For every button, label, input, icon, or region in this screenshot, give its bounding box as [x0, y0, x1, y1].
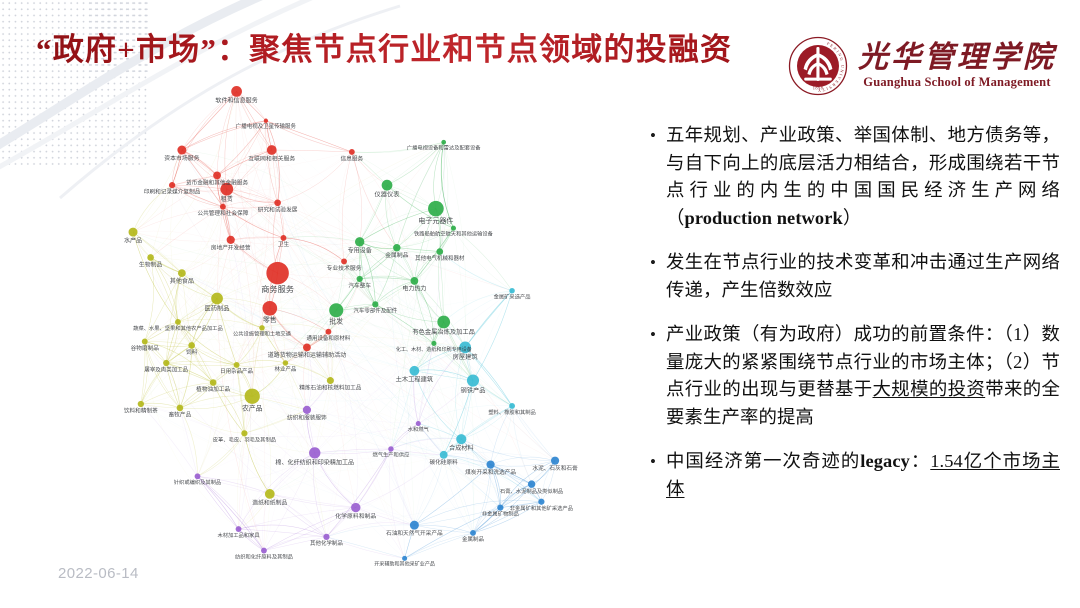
graph-edge	[141, 404, 327, 537]
graph-node-label: 通用设备和原材料	[307, 334, 351, 342]
bullet-item: •发生在节点行业的技术变革和冲击通过生产网络传递，产生倍数效应	[648, 249, 1060, 304]
graph-edge	[444, 142, 466, 455]
graph-node-label: 化工、木材、造纸和印刷专用设备	[396, 346, 472, 353]
graph-node[interactable]	[138, 401, 144, 407]
graph-node[interactable]	[261, 548, 267, 554]
graph-node-label: 针织或编织及其制品	[174, 478, 221, 486]
graph-node-label: 资本市场服务	[164, 154, 199, 162]
graph-node[interactable]	[509, 288, 514, 293]
graph-node-label: 金属矿采选产品	[494, 292, 531, 300]
graph-node-label: 塑料、橡胶和其制品	[488, 408, 535, 416]
graph-edge	[307, 142, 444, 347]
graph-node-label: 谷物磨制品	[131, 344, 160, 352]
graph-node-label: 煤炭开采和洗选产品	[465, 468, 516, 476]
graph-node[interactable]	[262, 301, 277, 316]
logo-wordmark: 光华管理学院 Guanghua School of Management	[858, 42, 1056, 91]
graph-node[interactable]	[265, 489, 275, 499]
logo-name-cn: 光华管理学院	[858, 42, 1056, 74]
graph-node-label: 皮革、毛皮、羽毛及其制品	[213, 435, 276, 443]
graph-node[interactable]	[372, 301, 378, 307]
bullet-text-segment: ：	[910, 451, 930, 471]
graph-node[interactable]	[528, 480, 535, 487]
graph-edge	[227, 121, 266, 189]
graph-node[interactable]	[327, 377, 334, 384]
graph-node-label: 其他化学制品	[310, 539, 343, 547]
graph-node-label: 研究和试验发展	[258, 205, 298, 213]
graph-edge	[389, 449, 404, 558]
graph-edge	[133, 228, 453, 265]
graph-node[interactable]	[329, 303, 343, 317]
graph-node-label: 零售	[263, 315, 277, 324]
graph-node-label: 互联网和相关服务	[248, 154, 295, 162]
graph-node-label: 钢铁产品	[461, 386, 486, 395]
graph-node[interactable]	[267, 145, 277, 155]
graph-node-label: 纺织和化纤原料及其制品	[235, 552, 293, 560]
graph-node[interactable]	[323, 534, 329, 540]
network-graph-canvas: 软件和信息服务广播电视及卫星传输服务资本市场服务互联网和相关服务信息服务广播电视…	[52, 66, 640, 574]
graph-node[interactable]	[195, 473, 201, 479]
graph-node-label: 卫生	[278, 240, 290, 248]
graph-node-label: 电力热力	[402, 285, 426, 293]
graph-edge	[414, 439, 461, 525]
graph-node[interactable]	[325, 329, 331, 335]
graph-node[interactable]	[274, 199, 281, 206]
graph-edge	[330, 381, 541, 502]
graph-edge	[461, 439, 555, 460]
graph-node-label: 造纸和纸制品	[252, 498, 287, 506]
graph-node-label: 非金属矿和其他矿采选产品	[510, 504, 573, 512]
institution-logo: 1898 PEKING UNIVERSITY 光华管理学院 Guanghua S…	[788, 36, 1056, 96]
graph-edge	[375, 281, 414, 304]
graph-edge	[512, 406, 541, 502]
graph-node[interactable]	[467, 375, 479, 387]
graph-node[interactable]	[178, 269, 186, 277]
graph-edge	[473, 291, 512, 381]
graph-node-label: 植物油加工品	[196, 385, 230, 393]
graph-edge	[198, 476, 264, 550]
bullet-marker-icon: •	[648, 249, 666, 304]
graph-edge	[244, 410, 307, 433]
graph-node-label: 广播电视设备和雷达及配套设备	[407, 144, 481, 152]
graph-edge	[336, 310, 434, 343]
graph-node[interactable]	[211, 293, 223, 305]
graph-node-label: 公共设施管理和土地交通	[233, 330, 292, 338]
graph-node[interactable]	[470, 530, 476, 536]
graph-edge	[270, 453, 315, 494]
graph-node-label: 汽车零部件及配件	[353, 307, 397, 315]
graph-edge	[151, 91, 237, 257]
graph-edge	[272, 150, 352, 152]
graph-node-label: 印刷和记录媒介复制品	[144, 188, 201, 196]
graph-node[interactable]	[349, 149, 355, 155]
graph-edge	[391, 449, 414, 525]
graph-edge	[270, 308, 336, 310]
graph-node-label: 生物制品	[139, 260, 163, 268]
graph-node-label: 其他电气机械和器材	[415, 254, 465, 262]
graph-node[interactable]	[210, 379, 217, 386]
graph-node-label: 非金属矿物制品	[482, 510, 519, 518]
graph-node[interactable]	[497, 504, 503, 510]
logo-name-en: Guanghua School of Management	[863, 75, 1050, 90]
graph-node-label: 石油和天然气开采产品	[386, 529, 443, 537]
graph-node[interactable]	[436, 248, 443, 255]
graph-node[interactable]	[341, 258, 347, 264]
slide-canvas: “政府+市场”：聚焦节点行业和节点领域的投融资 1898 PEKING UNIV…	[0, 0, 1080, 608]
graph-node-label: 日用杂品产品	[220, 367, 253, 375]
bullet-text: 五年规划、产业政策、举国体制、地方债务等，与自下向上的底层活力相结合，形成围绕若…	[666, 122, 1060, 232]
graph-node-label: 租赁	[221, 195, 233, 203]
graph-node[interactable]	[241, 430, 247, 436]
graph-node-label: 商务服务	[261, 284, 294, 294]
graph-edge	[342, 152, 352, 261]
graph-node[interactable]	[281, 235, 287, 241]
graph-node-label: 饲料	[186, 348, 198, 356]
graph-node[interactable]	[169, 182, 175, 188]
graph-node-label: 燃气生产和供应	[373, 451, 411, 459]
graph-node[interactable]	[236, 526, 242, 532]
graph-edge	[198, 476, 264, 550]
graph-node[interactable]	[259, 325, 264, 330]
graph-node-label: 棉、化纤纺织和印染精加工品	[275, 458, 354, 466]
graph-node[interactable]	[382, 180, 393, 191]
graph-node-label: 开采辅助和其他采矿业产品	[374, 561, 435, 568]
graph-edge	[244, 410, 307, 433]
date-stamp: 2022-06-14	[58, 565, 139, 582]
graph-node-label: 批发	[329, 317, 343, 326]
bullet-underlined-text: 大规模的投资	[873, 379, 986, 399]
graph-node[interactable]	[175, 319, 181, 325]
graph-node[interactable]	[538, 499, 544, 505]
graph-edge	[278, 203, 415, 371]
graph-node-label: 铁路船舶航空航天和其他运输设备	[414, 230, 494, 238]
bullet-marker-icon: •	[648, 321, 666, 431]
graph-node-label: 畜牧产品	[169, 411, 192, 419]
graph-node-label: 林业产品	[274, 365, 296, 373]
graph-node[interactable]	[163, 360, 169, 366]
bullet-text: 中国经济第一次奇迹的legacy：1.54亿个市场主体	[666, 448, 1060, 503]
graph-node[interactable]	[177, 146, 186, 155]
graph-edge	[436, 142, 445, 208]
graph-node-label: 专业技术服务	[326, 264, 361, 272]
graph-node[interactable]	[351, 503, 360, 512]
graph-node[interactable]	[431, 341, 436, 346]
graph-node[interactable]	[283, 360, 288, 365]
graph-node[interactable]	[303, 406, 311, 414]
graph-node-label: 汽车整车	[348, 281, 371, 289]
graph-edge	[440, 252, 444, 322]
graph-node[interactable]	[416, 421, 421, 426]
graph-node[interactable]	[509, 403, 515, 409]
graph-node-label: 软件和信息服务	[215, 97, 257, 105]
graph-node[interactable]	[402, 556, 407, 561]
graph-node-label: 农产品	[242, 403, 263, 412]
graph-edge	[326, 537, 404, 558]
graph-edge	[141, 403, 180, 408]
graph-node-label: 金属制品	[385, 251, 409, 259]
graph-node[interactable]	[410, 521, 419, 530]
bullet-text-segment: 发生在节点行业的技术变革和冲击通过生产网络传递，产生倍数效应	[666, 252, 1060, 300]
graph-edge	[278, 203, 532, 484]
graph-node-label: 信息服务	[341, 154, 364, 162]
graph-node[interactable]	[357, 276, 363, 282]
graph-edge	[182, 150, 360, 242]
graph-node[interactable]	[266, 262, 288, 284]
graph-node[interactable]	[355, 237, 364, 246]
graph-node-label: 纺织和服装服饰	[287, 413, 327, 421]
bullet-item: •五年规划、产业政策、举国体制、地方债务等，与自下向上的底层活力相结合，形成围绕…	[648, 122, 1060, 232]
graph-edge	[239, 494, 270, 529]
graph-node[interactable]	[129, 228, 138, 237]
bullet-item: •中国经济第一次奇迹的legacy：1.54亿个市场主体	[648, 448, 1060, 503]
graph-node-label: 石膏、水泥制品及类似制品	[500, 487, 563, 495]
graph-node-label: 屠宰及肉类加工品	[144, 365, 188, 373]
graph-node[interactable]	[220, 204, 226, 210]
page-title: “政府+市场”：聚焦节点行业和节点领域的投融资	[36, 24, 732, 69]
graph-edge	[391, 449, 414, 525]
graph-node-label: 其他食品	[170, 277, 194, 285]
graph-node[interactable]	[440, 451, 448, 459]
graph-node-label: 房地产开发经营	[211, 243, 251, 251]
graph-node-label: 水产品	[124, 236, 142, 244]
bullet-marker-icon: •	[648, 448, 666, 503]
graph-node[interactable]	[177, 405, 184, 412]
bullet-text-segment: ）	[843, 208, 862, 228]
graph-node-label: 水泥、石灰和石膏	[532, 464, 578, 472]
bullet-text: 发生在节点行业的技术变革和冲击通过生产网络传递，产生倍数效应	[666, 249, 1060, 304]
graph-node-label: 专用设备	[348, 246, 372, 254]
graph-node-label: 货币金融和其他金融服务	[186, 179, 249, 187]
graph-node-label: 木材加工品和家具	[217, 531, 260, 539]
graph-node-label: 水和燃气	[408, 425, 430, 433]
graph-node[interactable]	[388, 446, 393, 451]
graph-node-label: 金属制品	[462, 535, 484, 543]
graph-node-label: 碳化硅原料	[430, 458, 459, 466]
graph-node[interactable]	[188, 342, 195, 349]
bullet-marker-icon: •	[648, 122, 666, 232]
graph-edge	[172, 185, 344, 261]
bullet-list: •五年规划、产业政策、举国体制、地方债务等，与自下向上的底层活力相结合，形成围绕…	[648, 122, 1060, 520]
graph-node[interactable]	[486, 460, 494, 468]
graph-node-label: 蔬菜、水果、坚果和其他农产品加工品	[133, 324, 223, 332]
bullet-text-segment: 中国经济第一次奇迹的	[666, 451, 860, 471]
graph-node-label: 精炼石油和核燃料加工品	[299, 383, 362, 391]
graph-node-label: 道路货物运输和运输辅助活动	[268, 351, 347, 359]
graph-node-label: 化学原料和制品	[335, 512, 376, 520]
graph-edge	[141, 281, 415, 404]
graph-node[interactable]	[227, 236, 235, 244]
graph-node-label: 公共管理和社会保障	[197, 209, 248, 217]
graph-node[interactable]	[437, 316, 450, 329]
graph-node-label: 广播电视及卫星传输服务	[236, 122, 297, 130]
graph-edge	[270, 453, 315, 494]
bullet-text-segment: production network	[685, 208, 843, 228]
graph-node[interactable]	[213, 172, 221, 180]
graph-node-label: 有色金属冶炼及加工品	[412, 327, 475, 336]
graph-edge	[352, 152, 362, 242]
graph-node-label: 饮料和精制茶	[124, 407, 158, 415]
graph-node-label: 电子元器件	[418, 216, 453, 225]
graph-node[interactable]	[451, 226, 456, 231]
graph-node-label: 仪器仪表	[375, 189, 401, 198]
graph-node[interactable]	[264, 119, 268, 123]
graph-node[interactable]	[410, 277, 418, 285]
graph-node[interactable]	[441, 140, 446, 145]
bullet-item: •产业政策（有为政府）成功的前置条件：（1）数量庞大的紧紧围绕节点行业的市场主体…	[648, 321, 1060, 431]
graph-node[interactable]	[245, 389, 260, 404]
graph-edge	[151, 185, 172, 257]
graph-node-label: 土木工程建筑	[396, 375, 434, 384]
graph-edge	[239, 494, 270, 529]
graph-edge	[270, 308, 329, 331]
graph-node-label: 合成材料	[449, 444, 473, 452]
graph-edge	[141, 404, 473, 533]
graph-node[interactable]	[410, 366, 420, 376]
bullet-text-segment: legacy	[860, 451, 910, 471]
graph-node[interactable]	[309, 447, 320, 458]
graph-node[interactable]	[456, 434, 466, 444]
graph-node[interactable]	[428, 201, 444, 217]
bullet-text: 产业政策（有为政府）成功的前置条件：（1）数量庞大的紧紧围绕节点行业的市场主体；…	[666, 321, 1060, 431]
production-network-graph: 软件和信息服务广播电视及卫星传输服务资本市场服务互联网和相关服务信息服务广播电视…	[52, 66, 640, 574]
graph-node[interactable]	[234, 362, 240, 368]
graph-node-label: 医药制品	[205, 303, 230, 312]
peking-university-seal-icon: 1898 PEKING UNIVERSITY	[788, 36, 848, 96]
graph-node[interactable]	[142, 339, 148, 345]
graph-node[interactable]	[231, 86, 242, 97]
graph-node-label: 房屋建筑	[453, 352, 479, 361]
graph-node[interactable]	[551, 457, 559, 465]
graph-node[interactable]	[147, 254, 154, 261]
graph-node[interactable]	[393, 244, 400, 251]
graph-node[interactable]	[303, 343, 311, 351]
